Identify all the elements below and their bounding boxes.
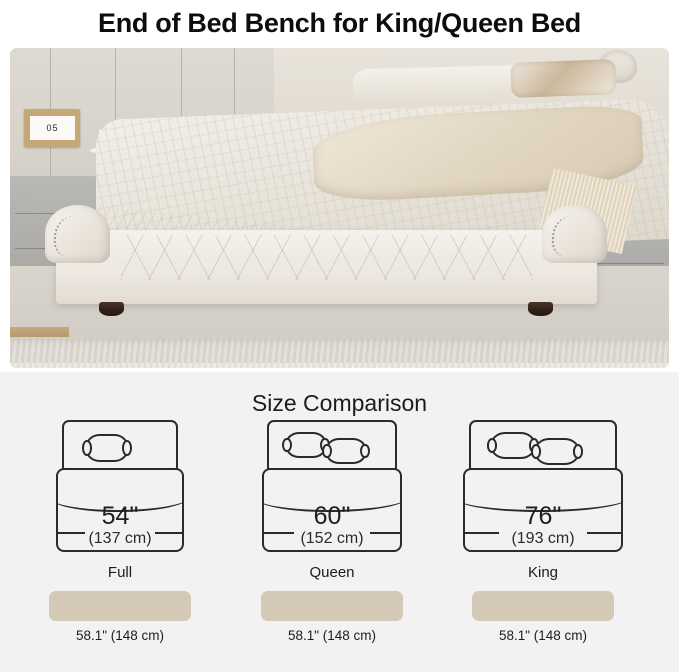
bed-width-cm-queen: (152 cm) [261, 530, 403, 548]
tufted-seat-pattern [121, 235, 532, 281]
bed-diagram-king: 76" (193 cm) [472, 420, 614, 552]
bed-pillow-icon [534, 438, 580, 465]
product-photo-scene: 05 [10, 48, 669, 368]
area-rug [10, 339, 669, 368]
bench-width-label-full: 58.1" (148 cm) [76, 628, 164, 643]
bed-width-inches-queen: 60" [261, 502, 403, 531]
storage-bench [56, 230, 596, 304]
bed-size-label-full: Full [108, 564, 132, 581]
bed-width-cm-king: (193 cm) [472, 530, 614, 548]
bed-pillow-icon [85, 434, 129, 462]
bed-pillow-icon [490, 432, 536, 459]
bed-column-full: 54" (137 cm) Full 58.1" (148 cm) [49, 420, 191, 643]
bench-arm-right [542, 205, 607, 262]
nailhead-trim [550, 214, 592, 259]
bed-width-inches-king: 76" [472, 502, 614, 531]
bed-pillow-icon [285, 432, 327, 458]
size-comparison-section: Size Comparison 54" (137 cm) Full 58.1" … [0, 372, 679, 672]
rug-border [10, 363, 669, 368]
bench-arm-left [45, 205, 110, 262]
bed-width-inches-full: 54" [49, 502, 191, 531]
bench-width-bar-full [49, 591, 191, 621]
bed-size-label-queen: Queen [309, 564, 354, 581]
bed-size-label-king: King [528, 564, 558, 581]
flip-clock: 05 [24, 109, 80, 147]
bed-column-king: 76" (193 cm) King 58.1" (148 cm) [472, 420, 614, 643]
bench-width-label-king: 58.1" (148 cm) [499, 628, 587, 643]
page-title: End of Bed Bench for King/Queen Bed [98, 8, 581, 39]
bed-diagram-full: 54" (137 cm) [49, 420, 191, 552]
flip-clock-display: 05 [30, 116, 76, 140]
nailhead-trim [53, 214, 95, 259]
bed-column-queen: 60" (152 cm) Queen 58.1" (148 cm) [261, 420, 403, 643]
size-comparison-heading: Size Comparison [0, 372, 679, 417]
bench-width-label-queen: 58.1" (148 cm) [288, 628, 376, 643]
bench-width-bar-king [472, 591, 614, 621]
bed-comparison-row: 54" (137 cm) Full 58.1" (148 cm) 60" (15… [0, 420, 679, 670]
bench-width-bar-queen [261, 591, 403, 621]
bed-pillow-icon [325, 438, 367, 464]
drawer-line [588, 263, 663, 264]
bed-width-cm-full: (137 cm) [49, 530, 191, 548]
accent-pillow [510, 59, 617, 98]
wood-floor-strip [10, 327, 69, 337]
title-bar: End of Bed Bench for King/Queen Bed [0, 0, 679, 46]
bed-diagram-queen: 60" (152 cm) [261, 420, 403, 552]
product-photo: 05 [10, 48, 669, 368]
